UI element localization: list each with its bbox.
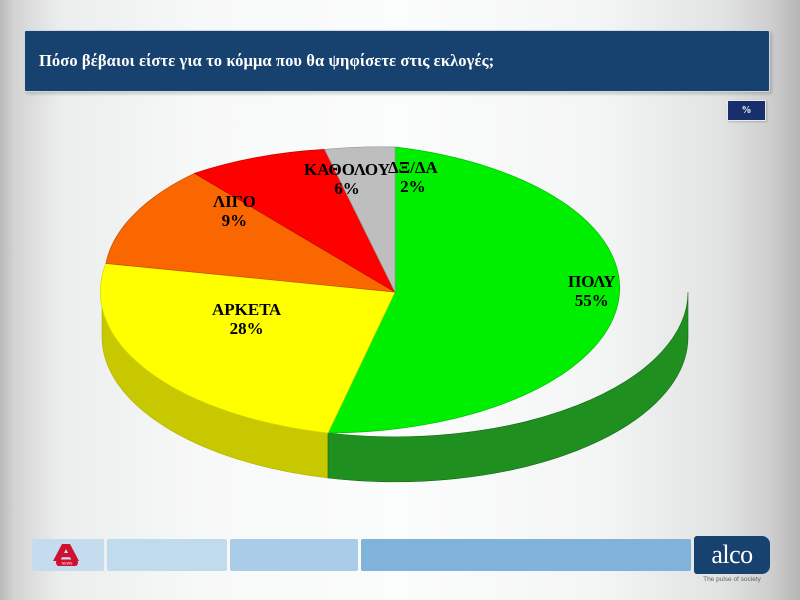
footer-segment-4 <box>361 539 691 571</box>
svg-text:NEWS: NEWS <box>62 561 73 565</box>
footer-segment-2 <box>107 539 227 571</box>
alco-wordmark: alco <box>711 542 752 568</box>
pie-chart: ΠΟΛΥ 55% ΑΡΚΕΤΑ 28% ΛΙΓΟ 9% ΚΑΘΟΛΟΥ 6% Δ… <box>0 120 800 520</box>
pie-top-faces <box>100 147 619 433</box>
percent-unit-badge: % <box>727 100 766 121</box>
alco-logo: alco <box>694 536 770 574</box>
percent-unit-label: % <box>742 105 752 116</box>
alco-tagline: The pulse of society <box>694 576 770 583</box>
title-bar: Πόσο βέβαιοι είστε για το κόμμα που θα ψ… <box>24 30 770 92</box>
footer-bar: NEWS alco The pulse of society <box>0 530 800 600</box>
footer-segment-3 <box>230 539 358 571</box>
pie-chart-svg <box>0 120 800 520</box>
slide-canvas: Πόσο βέβαιοι είστε για το κόμμα που θα ψ… <box>0 0 800 600</box>
alpha-news-logo-icon: NEWS <box>46 542 90 568</box>
page-title: Πόσο βέβαιοι είστε για το κόμμα που θα ψ… <box>25 51 494 71</box>
